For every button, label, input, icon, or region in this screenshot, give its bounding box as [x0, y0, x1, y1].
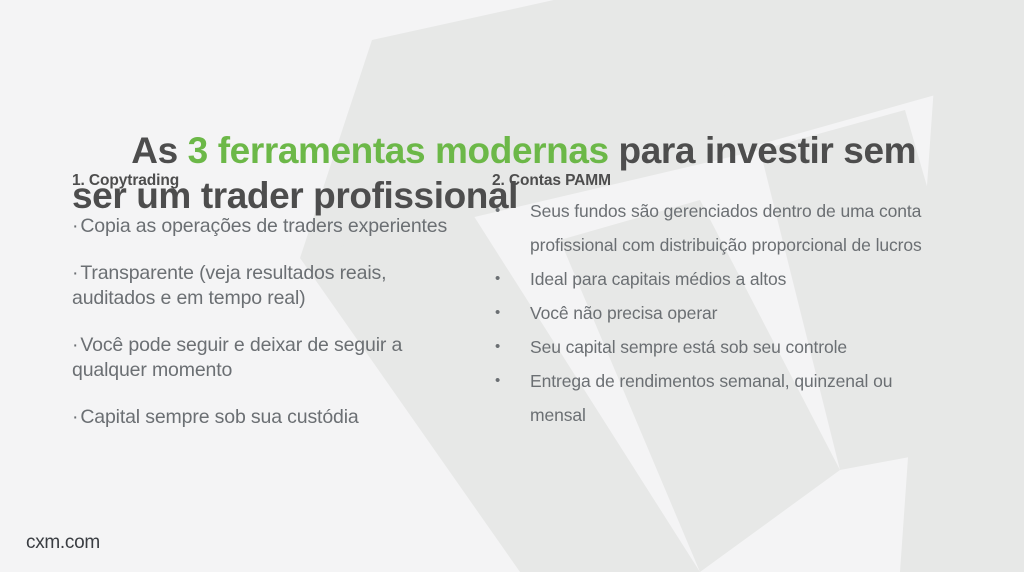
list-item: •Ideal para capitais médios a altos [492, 262, 932, 296]
list-item-text: Copia as operações de traders experiente… [80, 215, 447, 237]
list-item: •Seus fundos são gerenciados dentro de u… [492, 194, 932, 262]
list-item: ·Transparente (veja resultados reais, au… [72, 261, 472, 311]
bullet-dot-icon: • [495, 296, 500, 330]
bullet-dot-icon: • [495, 262, 500, 296]
slide-content: As 3 ferramentas modernas para investir … [0, 0, 1024, 572]
list-item: •Seu capital sempre está sob seu control… [492, 330, 932, 364]
column-heading-1: 1. Copytrading [72, 172, 472, 192]
list-item-text: Seus fundos são gerenciados dentro de um… [530, 201, 922, 255]
bullet-dot-icon: • [495, 194, 500, 228]
list-item-text: Capital sempre sob sua custódia [80, 406, 358, 428]
bullet-dot-icon: • [495, 364, 500, 398]
list-item-text: Entrega de rendimentos semanal, quinzena… [530, 371, 892, 425]
list-item-text: Seu capital sempre está sob seu controle [530, 337, 847, 357]
title-segment-lead: As [131, 130, 187, 171]
column-copytrading: 1. Copytrading ·Copia as operações de tr… [72, 172, 472, 430]
title-segment-accent: 3 ferramentas modernas [188, 130, 609, 171]
footer-brand-logo: cxm.com [26, 532, 100, 554]
list-item: ·Copia as operações de traders experient… [72, 214, 472, 239]
slide-canvas: As 3 ferramentas modernas para investir … [0, 0, 1024, 572]
list-item-text: Você não precisa operar [530, 303, 717, 323]
column-pamm: 2. Contas PAMM •Seus fundos são gerencia… [492, 172, 932, 432]
bullet-dot-icon: · [72, 262, 78, 284]
list-item: ·Você pode seguir e deixar de seguir a q… [72, 333, 472, 383]
list-item: •Entrega de rendimentos semanal, quinzen… [492, 364, 932, 432]
bullet-dot-icon: · [72, 215, 78, 237]
list-item-text: Você pode seguir e deixar de seguir a qu… [72, 334, 402, 381]
bullet-list-pamm: •Seus fundos são gerenciados dentro de u… [492, 194, 932, 432]
list-item-text: Transparente (veja resultados reais, aud… [72, 262, 386, 309]
column-heading-2: 2. Contas PAMM [492, 172, 932, 194]
bullet-dot-icon: · [72, 406, 78, 428]
bullet-list-copytrading: ·Copia as operações de traders experient… [72, 214, 472, 430]
list-item: •Você não precisa operar [492, 296, 932, 330]
bullet-dot-icon: · [72, 334, 78, 356]
bullet-dot-icon: • [495, 330, 500, 364]
list-item-text: Ideal para capitais médios a altos [530, 269, 786, 289]
list-item: ·Capital sempre sob sua custódia [72, 405, 472, 430]
